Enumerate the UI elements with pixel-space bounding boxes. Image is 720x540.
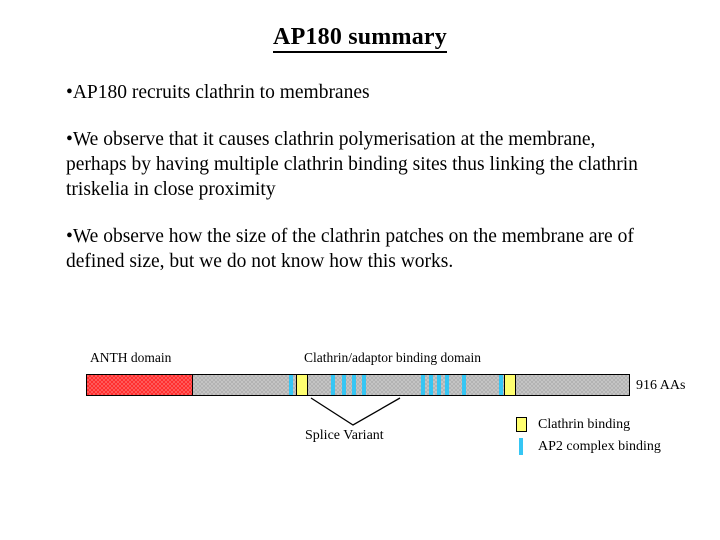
list-item-text: We observe how the size of the clathrin … (66, 226, 634, 272)
page-title: AP180 summary (0, 24, 720, 51)
legend-label: AP2 complex binding (538, 439, 661, 455)
ap2-binding-marker (437, 375, 441, 395)
bullet-marker-icon: • (66, 226, 73, 247)
bullet-marker-icon: • (66, 82, 73, 103)
protein-backbone-bar (86, 374, 630, 396)
anth-domain-label: ANTH domain (90, 350, 171, 366)
ap2-binding-marker (352, 375, 356, 395)
clathrin-binding-swatch (516, 417, 538, 432)
clathrin-binding-marker (504, 375, 516, 395)
ap2-binding-marker (499, 375, 503, 395)
clathrin-adaptor-domain-label: Clathrin/adaptor binding domain (304, 350, 481, 366)
bullet-marker-icon: • (66, 129, 73, 150)
list-item-text: We observe that it causes clathrin polym… (66, 129, 638, 200)
splice-variant-label: Splice Variant (305, 428, 384, 444)
page-title-text: AP180 summary (273, 24, 447, 53)
ap2-binding-swatch (516, 438, 538, 455)
ap2-binding-marker (462, 375, 466, 395)
ap2-binding-marker (342, 375, 346, 395)
clathrin-binding-marker (296, 375, 308, 395)
legend-label: Clathrin binding (538, 417, 630, 433)
protein-length-label: 916 AAs (636, 378, 685, 394)
list-item: •We observe how the size of the clathrin… (66, 224, 646, 274)
legend-item-clathrin-binding: Clathrin binding (516, 414, 661, 435)
ap2-binding-marker (289, 375, 293, 395)
list-item-text: AP180 recruits clathrin to membranes (73, 82, 370, 103)
ap2-binding-marker (429, 375, 433, 395)
list-item: •AP180 recruits clathrin to membranes (66, 80, 646, 105)
protein-domain-diagram: ANTH domain Clathrin/adaptor binding dom… (0, 346, 720, 476)
legend-item-ap2-binding: AP2 complex binding (516, 436, 661, 457)
ap2-binding-marker (362, 375, 366, 395)
bullet-list: •AP180 recruits clathrin to membranes •W… (66, 80, 646, 296)
ap2-binding-marker (331, 375, 335, 395)
ap2-binding-marker (421, 375, 425, 395)
diagram-legend: Clathrin binding AP2 complex binding (516, 414, 661, 458)
anth-domain-region (87, 375, 193, 395)
list-item: •We observe that it causes clathrin poly… (66, 127, 646, 202)
ap2-binding-marker (445, 375, 449, 395)
